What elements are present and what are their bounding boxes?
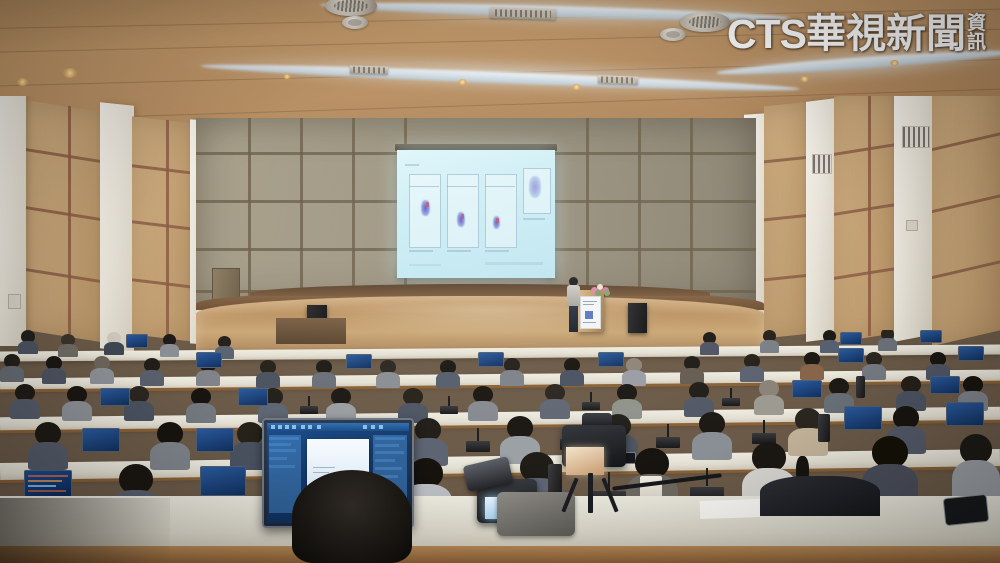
audience-laptop[interactable]: [598, 352, 624, 367]
stage-loudspeaker: [628, 303, 647, 333]
recessed-downlight-icon: [890, 60, 899, 66]
audience-member: [862, 352, 886, 378]
audience-laptop[interactable]: [100, 388, 130, 406]
audience-member: [140, 358, 164, 384]
conference-microphone[interactable]: [752, 420, 776, 444]
watermark-stacked-top: 資: [967, 14, 986, 33]
louver-vent-icon: [812, 154, 832, 174]
watermark-stacked-bottom: 訊: [967, 33, 986, 52]
ceiling-speaker-icon: [660, 28, 686, 41]
audience-laptop[interactable]: [82, 428, 120, 452]
foreground-person-shoulder: [760, 476, 880, 516]
audience-member: [692, 412, 732, 458]
audience-laptop[interactable]: [838, 348, 864, 363]
tabletop-tripod: [562, 473, 622, 519]
audience-member: [58, 334, 78, 356]
audience-member: [436, 360, 460, 386]
audience-member: [800, 352, 824, 378]
audience-laptop[interactable]: [958, 346, 984, 361]
audience-member: [680, 356, 704, 382]
lectern-signage: [580, 296, 601, 329]
wall-panel-bay: [22, 100, 104, 343]
audience-member: [926, 352, 950, 378]
audience-member: [18, 330, 38, 352]
audience-member: [28, 422, 68, 468]
paper-handout[interactable]: [700, 499, 761, 519]
wall-panel-box: [8, 294, 21, 309]
audience-member: [700, 332, 719, 354]
audience-member: [376, 360, 400, 386]
dslr-camera-on-tabletop-tripod[interactable]: [548, 425, 634, 523]
audience-member: [10, 384, 40, 418]
broadcaster-watermark: CTS 華視新聞 資 訊: [727, 14, 986, 55]
conference-microphone[interactable]: [466, 428, 490, 452]
foreground-viewer-head: [292, 470, 412, 563]
audience-member: [740, 354, 764, 380]
presenter-torso: [567, 285, 580, 307]
audience-member: [398, 388, 428, 422]
audience-member: [820, 330, 839, 352]
audience-member: [612, 384, 642, 418]
audience-member: [326, 388, 356, 422]
ceiling-speaker-icon: [342, 16, 368, 29]
audience-member: [312, 360, 336, 386]
wall-pillar: [806, 98, 836, 342]
audience-member: [540, 384, 570, 418]
louver-vent-icon: [902, 126, 930, 148]
audience-member: [760, 330, 779, 352]
audience-member: [0, 354, 24, 380]
audience-member: [560, 358, 584, 384]
audience-member: [952, 434, 1000, 502]
ceiling-vent-icon: [680, 12, 730, 32]
water-bottle[interactable]: [818, 414, 830, 442]
audience-laptop[interactable]: [840, 332, 862, 345]
audience-member: [90, 356, 114, 382]
camera-lcd-screen[interactable]: [566, 447, 604, 475]
stage-edge: [250, 284, 710, 296]
audience-laptop[interactable]: [126, 334, 148, 348]
recessed-downlight-icon: [458, 79, 467, 85]
lectern-logo-icon: [585, 311, 593, 319]
recessed-downlight-icon: [17, 78, 28, 86]
audience-member: [62, 386, 92, 420]
wall-pillar: [100, 102, 134, 352]
water-bottle[interactable]: [856, 376, 865, 398]
audience-member: [104, 332, 124, 354]
audience-member: [42, 356, 66, 382]
presenter-legs: [569, 306, 578, 332]
audience-laptop[interactable]: [196, 428, 234, 452]
audience-laptop[interactable]: [946, 402, 984, 426]
audience-laptop[interactable]: [792, 380, 822, 398]
audience-laptop[interactable]: [238, 388, 268, 406]
conference-microphone[interactable]: [656, 424, 680, 448]
presenter-at-podium: [566, 277, 581, 332]
ceiling-vent-icon: [598, 75, 638, 84]
audience-laptop[interactable]: [196, 352, 222, 368]
audience-laptop[interactable]: [920, 330, 942, 343]
conference-microphone[interactable]: [440, 396, 458, 414]
floral-arrangement: [590, 283, 612, 296]
audience-laptop[interactable]: [200, 466, 246, 496]
audience-member: [256, 360, 280, 386]
wall-panel-box: [906, 220, 918, 231]
audience-member: [150, 422, 190, 468]
audience-member: [684, 382, 714, 416]
recessed-downlight-icon: [283, 74, 291, 79]
audience-member: [160, 334, 179, 356]
conference-microphone[interactable]: [300, 396, 318, 414]
watermark-han-text: 華視新聞: [806, 14, 966, 54]
audience-member: [622, 358, 646, 384]
recessed-downlight-icon: [800, 76, 809, 82]
audience-laptop[interactable]: [346, 354, 372, 369]
smartphone[interactable]: [943, 494, 990, 526]
audience-member: [186, 388, 216, 422]
audience-member: [468, 386, 498, 420]
watermark-latin-text: CTS: [727, 14, 806, 55]
audience-laptop[interactable]: [478, 352, 504, 367]
watermark-stacked-text: 資 訊: [967, 14, 986, 51]
recessed-downlight-icon: [572, 84, 581, 90]
recessed-downlight-icon: [63, 68, 77, 78]
audience-laptop[interactable]: [930, 376, 960, 394]
audience-member: [878, 330, 897, 350]
conference-microphone[interactable]: [722, 388, 740, 406]
projection-screen: [397, 150, 555, 278]
ceiling-vent-icon: [490, 7, 556, 20]
conference-microphone[interactable]: [582, 392, 600, 410]
audience-laptop[interactable]: [844, 406, 882, 430]
wall-panel-bay: [932, 96, 1000, 346]
wall-panel-bay: [834, 96, 896, 343]
audience-member: [754, 380, 784, 414]
broadcast-frame: CTS 華視新聞 資 訊: [0, 0, 1000, 563]
foreground-shadow: [0, 498, 170, 563]
audience-member: [896, 376, 926, 410]
ceiling-vent-icon: [350, 65, 388, 74]
